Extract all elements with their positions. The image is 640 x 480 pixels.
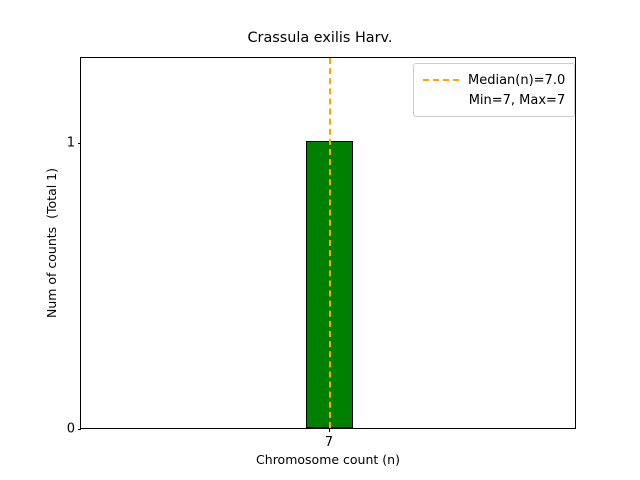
ytick-label-1: 1 — [67, 136, 75, 151]
legend-label-minmax: Min=7, Max=7 — [468, 93, 565, 108]
ytick-mark-0 — [78, 429, 82, 430]
y-axis-label: Num of counts (Total 1) — [44, 57, 66, 429]
legend-item-minmax: Min=7, Max=7 — [423, 90, 565, 110]
chart-figure: Crassula exilis Harv. 0 1 7 Median(n)=7.… — [0, 0, 640, 480]
xtick-label-7: 7 — [325, 435, 333, 450]
chart-legend[interactable]: Median(n)=7.0 Min=7, Max=7 — [413, 63, 575, 117]
x-axis-label: Chromosome count (n) — [80, 452, 576, 467]
legend-item-median: Median(n)=7.0 — [423, 70, 565, 90]
plot-area: 0 1 7 Median(n)=7.0 Min=7, Max=7 — [80, 57, 576, 429]
median-line — [329, 58, 331, 428]
ytick-mark-1 — [78, 143, 82, 144]
xtick-mark-7 — [329, 428, 330, 432]
ytick-label-0: 0 — [67, 422, 75, 437]
dashed-line-icon — [423, 79, 459, 81]
chart-title: Crassula exilis Harv. — [0, 30, 640, 46]
legend-label-median: Median(n)=7.0 — [468, 73, 565, 88]
